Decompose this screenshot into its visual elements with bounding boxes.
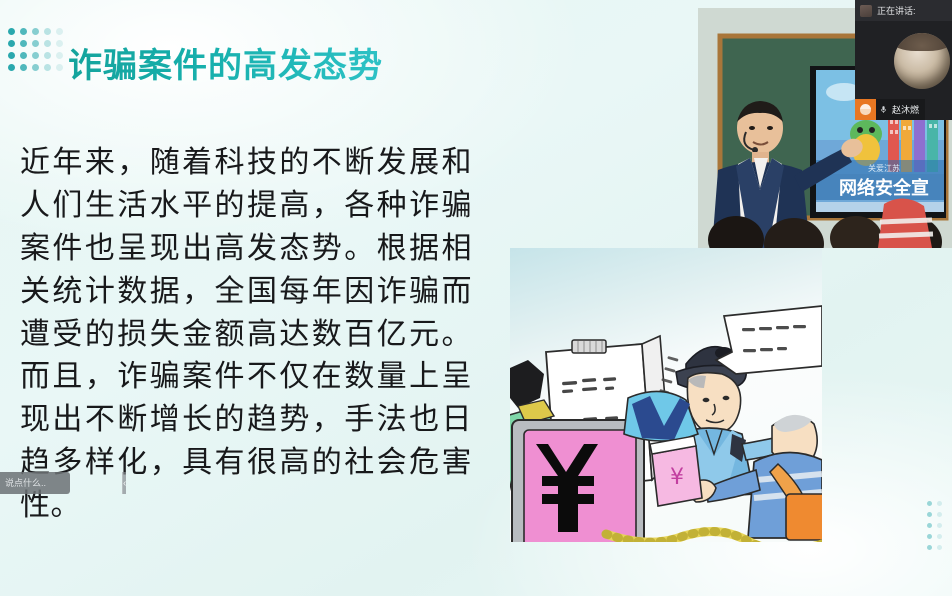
screen-heading-text: 网络安全宣 (839, 177, 929, 199)
cartoon-illustration-svg: ¥ (510, 248, 822, 542)
video-stage[interactable]: 赵沐燃 (855, 21, 952, 120)
speaking-status-label: 正在讲话: (877, 4, 916, 17)
chevron-left-icon: ‹ (123, 478, 126, 489)
chat-message-input[interactable] (0, 478, 122, 488)
hair-shape (894, 33, 950, 51)
svg-text:¥: ¥ (670, 465, 684, 490)
microphone-icon[interactable] (876, 99, 890, 120)
collapse-panel-button[interactable]: ‹ (122, 472, 126, 494)
dot-grid-decoration-right (927, 501, 947, 556)
screen-subheading-text: 关爱江苏 (868, 163, 900, 173)
participant-avatar (855, 99, 876, 120)
speaking-status-bar: 正在讲话: (855, 0, 952, 21)
video-participant-panel[interactable]: 正在讲话: 赵沐燃 (855, 0, 952, 120)
anti-fraud-cartoon-image: ¥ (510, 248, 822, 542)
participant-name-badge: 赵沐燃 (855, 99, 925, 120)
dot-grid-decoration (8, 28, 68, 76)
person-icon (860, 104, 871, 115)
speaker-thumbnail-icon (860, 5, 872, 17)
slide-body-text: 近年来，随着科技的不断发展和人们生活水平的提高，各种诈骗案件也呈现出高发态势。根… (20, 142, 472, 528)
chat-input-bar[interactable]: ‹ (0, 472, 70, 494)
presentation-slide: 诈骗案件的高发态势 近年来，随着科技的不断发展和人们生活水平的提高，各种诈骗案件… (0, 0, 952, 596)
participant-video-thumbnail (894, 33, 950, 89)
slide-title: 诈骗案件的高发态势 (68, 38, 383, 87)
participant-name: 赵沐燃 (890, 103, 925, 116)
